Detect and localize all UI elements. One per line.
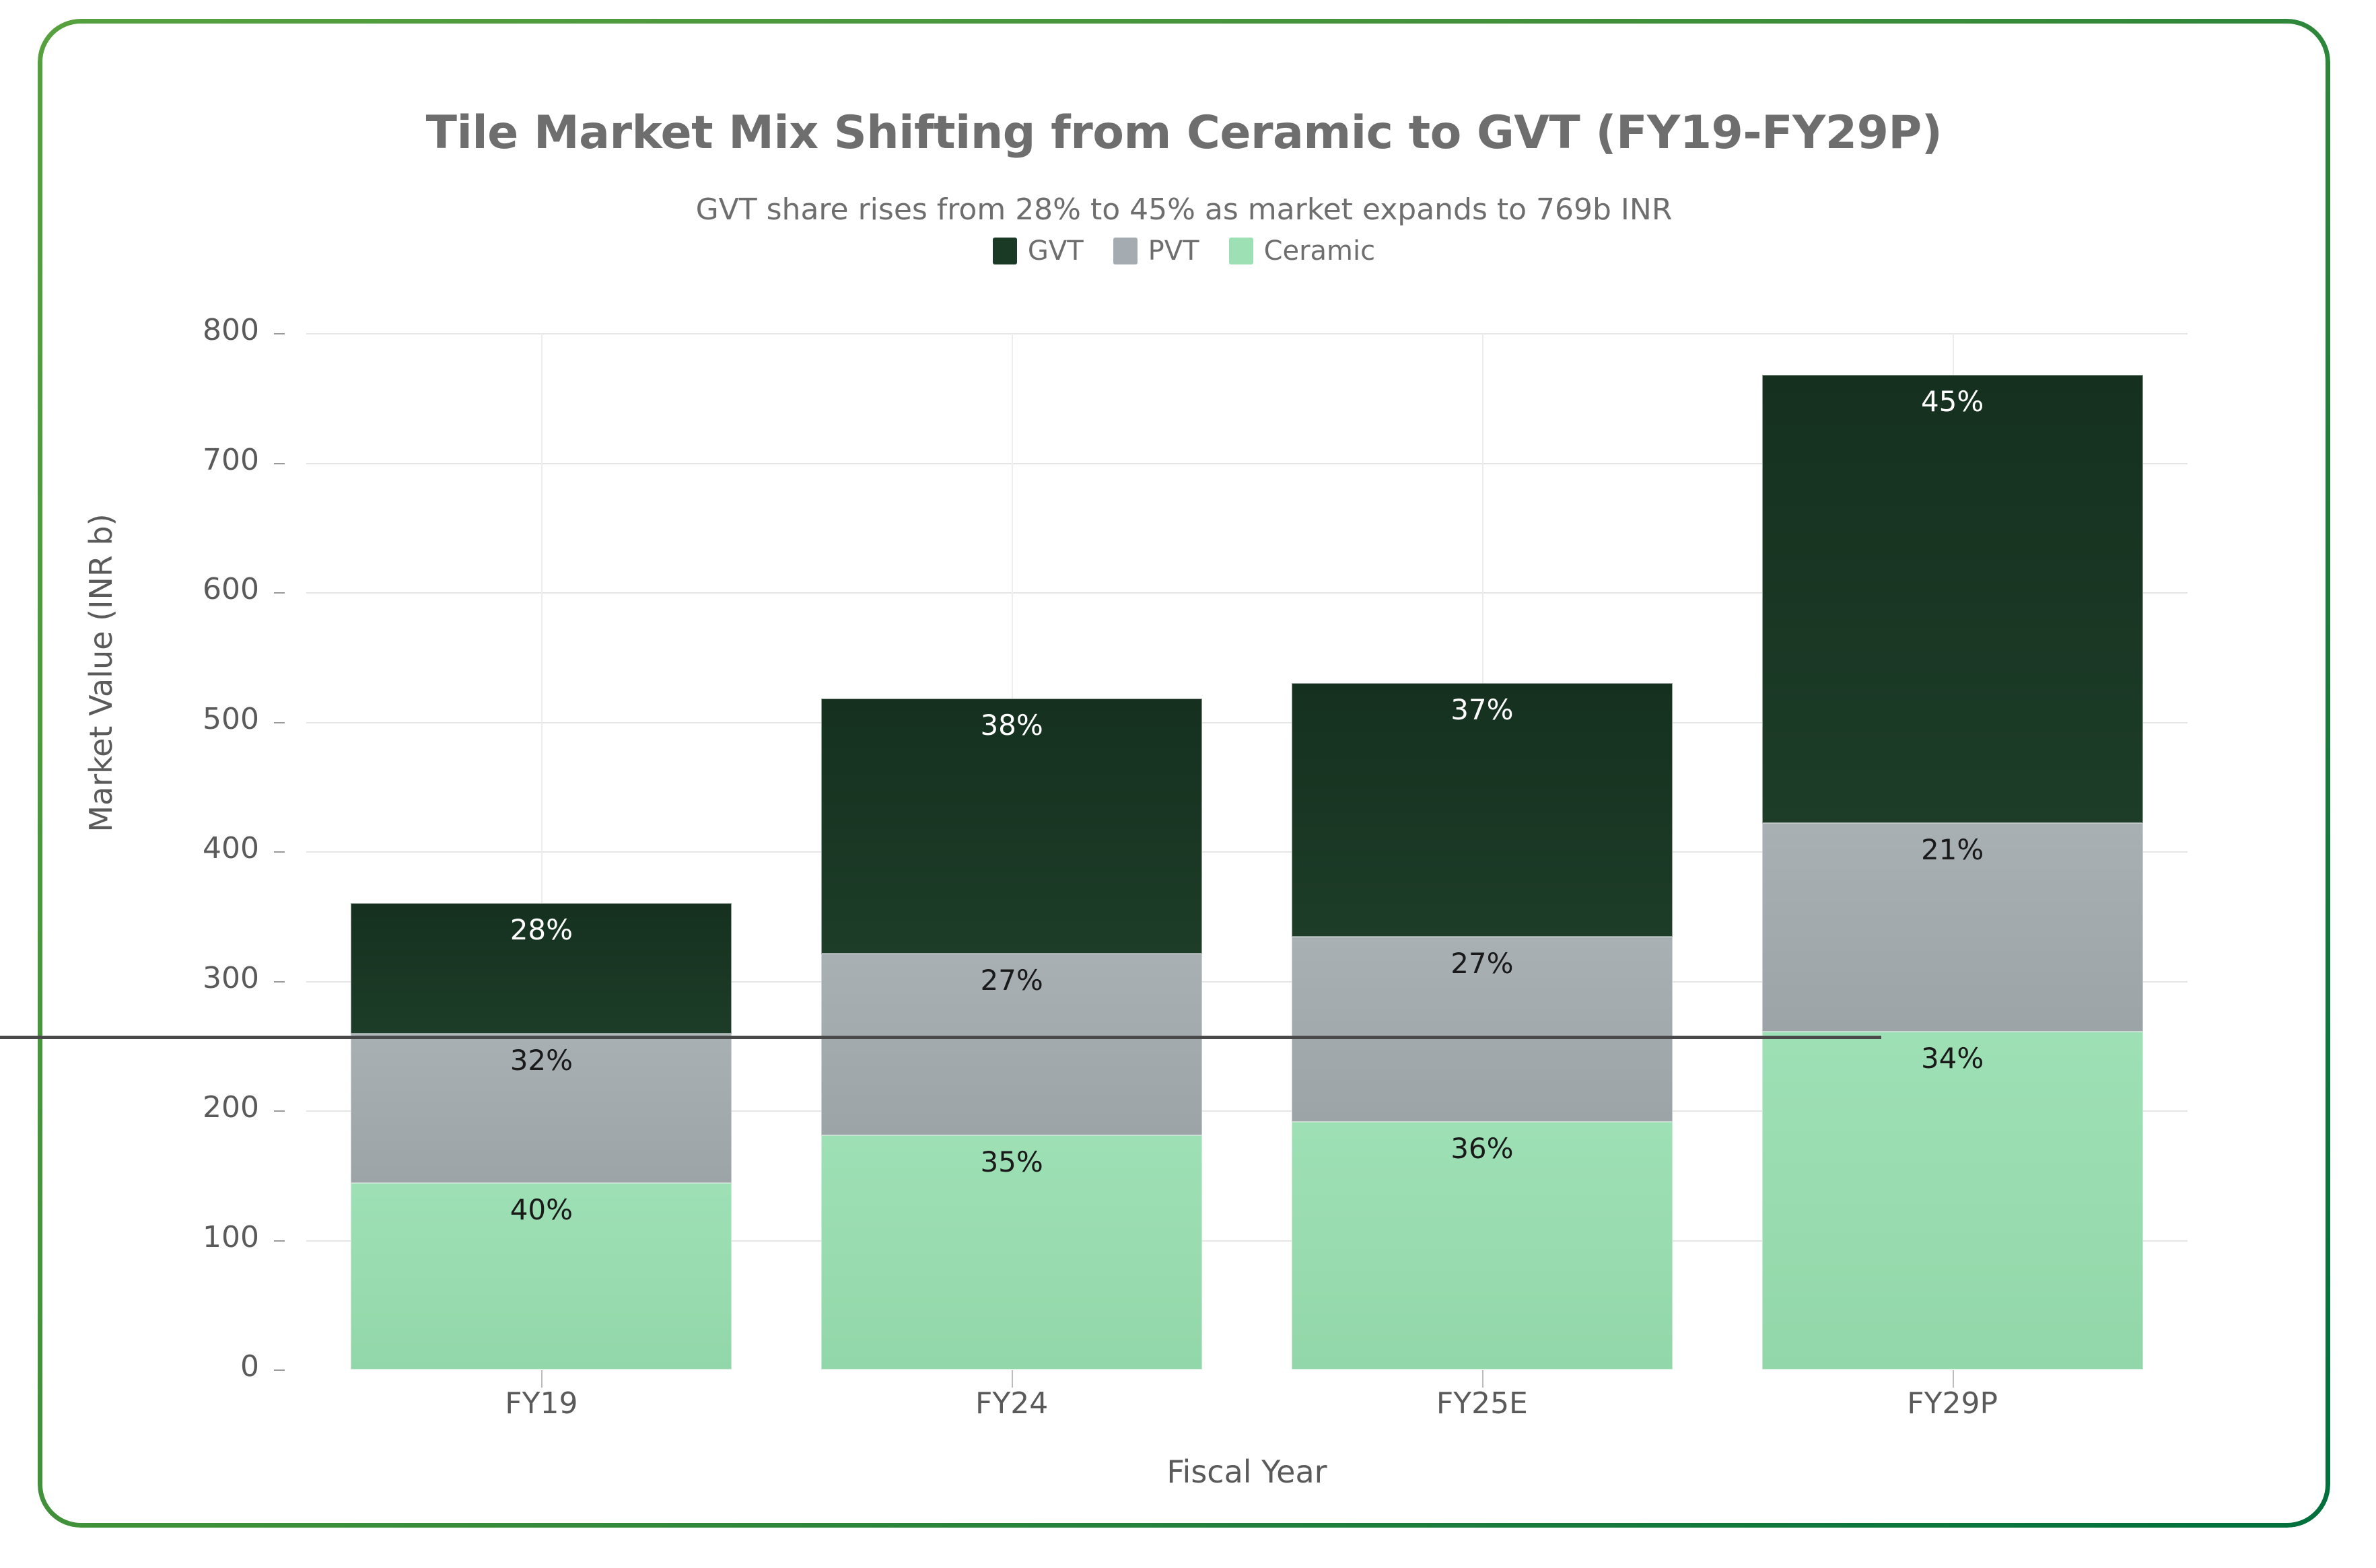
bar-segment-label: 40% xyxy=(351,1193,731,1226)
bar-segment-label: 37% xyxy=(1292,693,1672,726)
bar-segment-gvt[interactable]: 38% xyxy=(821,699,1202,954)
y-axis-tick-label: 100 xyxy=(0,1220,259,1254)
bar-segment-gvt[interactable]: 37% xyxy=(1292,683,1673,937)
y-axis-tick-mark xyxy=(274,1110,285,1112)
bar-segment-ceramic[interactable]: 35% xyxy=(821,1135,1202,1369)
y-axis-tick-label: 700 xyxy=(0,443,259,477)
bar-segment-pvt[interactable]: 21% xyxy=(1762,823,2143,1032)
legend-swatch-pvt xyxy=(1113,238,1138,264)
legend-swatch-gvt xyxy=(993,238,1017,264)
y-axis-tick-label: 200 xyxy=(0,1090,259,1125)
bar-segment-pvt[interactable]: 27% xyxy=(821,954,1202,1135)
chart-subtitle: GVT share rises from 28% to 45% as marke… xyxy=(38,192,2330,227)
legend-label-pvt: PVT xyxy=(1148,236,1199,266)
bar-segment-label: 38% xyxy=(822,709,1201,742)
legend-item-pvt[interactable]: PVT xyxy=(1113,236,1199,266)
legend-item-gvt[interactable]: GVT xyxy=(993,236,1084,266)
bar-segment-label: 28% xyxy=(351,913,731,946)
x-axis-tick-mark xyxy=(1953,1370,1954,1388)
y-axis-tick-mark xyxy=(274,851,285,853)
y-axis-tick-label: 0 xyxy=(0,1349,259,1384)
bar-segment-label: 45% xyxy=(1763,385,2142,418)
chart-title: Tile Market Mix Shifting from Ceramic to… xyxy=(38,106,2330,159)
x-axis-tick-mark xyxy=(1012,1370,1013,1388)
x-axis-tick-label: FY25E xyxy=(1436,1386,1528,1421)
y-axis-tick-label: 300 xyxy=(0,961,259,995)
x-axis-tick-label: FY24 xyxy=(975,1386,1048,1421)
bar-segment-label: 36% xyxy=(1292,1132,1672,1165)
y-axis-tick-mark xyxy=(274,1240,285,1242)
bar-segment-pvt[interactable]: 27% xyxy=(1292,937,1673,1122)
bar-stack[interactable]: 35%27%38% xyxy=(821,333,1202,1369)
bar-segment-label: 21% xyxy=(1763,833,2142,866)
bar-segment-gvt[interactable]: 45% xyxy=(1762,375,2143,823)
bar-segment-label: 27% xyxy=(822,964,1201,997)
x-axis-tick-mark xyxy=(1482,1370,1483,1388)
x-axis-title: Fiscal Year xyxy=(306,1454,2188,1490)
legend-label-gvt: GVT xyxy=(1028,236,1084,266)
legend-swatch-ceramic xyxy=(1229,238,1253,264)
y-axis-tick-label: 400 xyxy=(0,831,259,865)
bar-segment-label: 27% xyxy=(1292,947,1672,980)
y-axis-tick-mark xyxy=(274,463,285,464)
x-axis-tick-mark xyxy=(541,1370,543,1388)
plot-area: 40%32%28%35%27%38%36%27%37%34%21%45% xyxy=(306,333,2188,1369)
legend-label-ceramic: Ceramic xyxy=(1264,236,1376,266)
y-axis-tick-mark xyxy=(274,333,285,334)
y-axis-tick-label: 600 xyxy=(0,572,259,606)
bar-segment-ceramic[interactable]: 36% xyxy=(1292,1122,1673,1369)
y-axis-tick-label: 800 xyxy=(0,313,259,347)
chart-legend: GVT PVT Ceramic xyxy=(38,236,2330,266)
bar-segment-ceramic[interactable]: 40% xyxy=(351,1183,732,1369)
x-axis-line xyxy=(0,1036,1881,1039)
bar-segment-label: 34% xyxy=(1763,1042,2142,1075)
y-axis-tick-mark xyxy=(274,592,285,594)
y-axis-tick-mark xyxy=(274,981,285,983)
x-axis-tick-label: FY29P xyxy=(1907,1386,1998,1421)
y-axis-tick-label: 500 xyxy=(0,702,259,736)
bar-stack[interactable]: 40%32%28% xyxy=(351,333,732,1369)
legend-item-ceramic[interactable]: Ceramic xyxy=(1229,236,1376,266)
bar-stack[interactable]: 34%21%45% xyxy=(1762,333,2143,1369)
x-axis-tick-label: FY19 xyxy=(505,1386,578,1421)
bar-segment-ceramic[interactable]: 34% xyxy=(1762,1032,2143,1369)
y-axis-title: Market Value (INR b) xyxy=(83,513,119,832)
y-axis-tick-mark xyxy=(274,722,285,723)
bar-segment-label: 32% xyxy=(351,1044,731,1077)
y-axis-tick-mark xyxy=(274,1369,285,1371)
bar-segment-gvt[interactable]: 28% xyxy=(351,903,732,1034)
bar-stack[interactable]: 36%27%37% xyxy=(1292,333,1673,1369)
bar-segment-pvt[interactable]: 32% xyxy=(351,1034,732,1182)
bar-segment-label: 35% xyxy=(822,1145,1201,1178)
